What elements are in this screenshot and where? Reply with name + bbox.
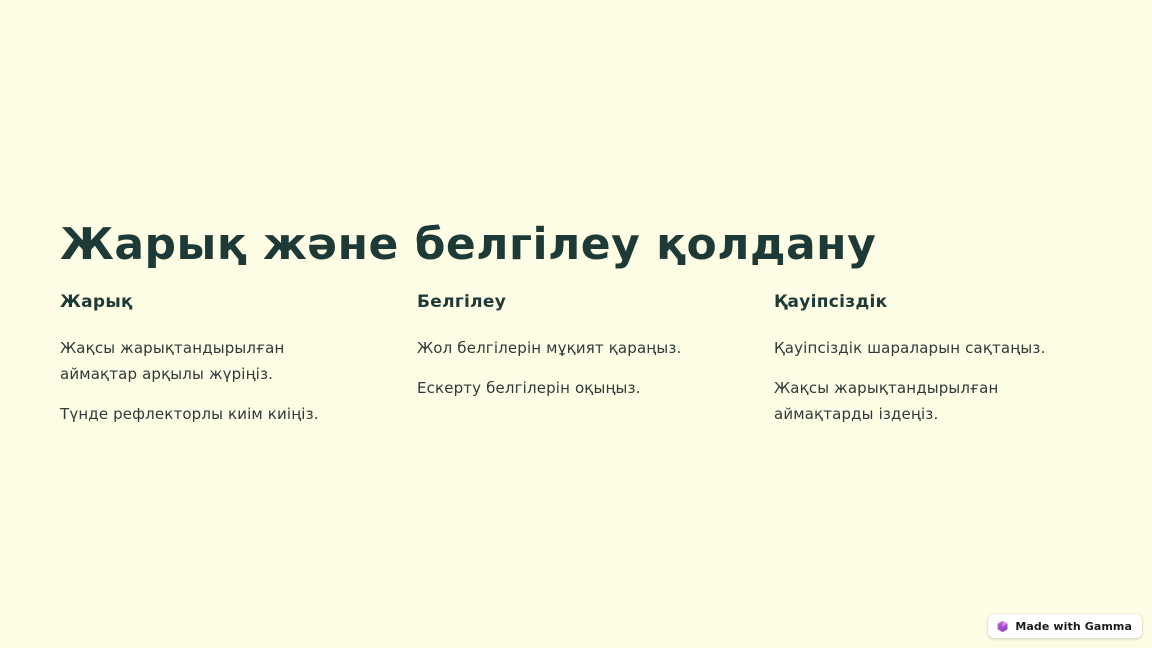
page-title: Жарық және белгілеу қолдану (60, 220, 876, 269)
column-heading: Қауіпсіздік (774, 291, 1074, 313)
column-heading: Жарық (60, 291, 360, 313)
column-paragraph: Жақсы жарықтандырылған аймақтарды іздеңі… (774, 375, 1074, 427)
gamma-logo-icon (996, 620, 1009, 633)
column-paragraph: Жол белгілерін мұқият қараңыз. (417, 335, 717, 361)
column-body: Қауіпсіздік шараларын сақтаңыз. Жақсы жа… (774, 335, 1074, 427)
column-lighting: Жарық Жақсы жарықтандырылған аймақтар ар… (60, 291, 360, 427)
column-heading: Белгілеу (417, 291, 717, 313)
slide-canvas: Жарық және белгілеу қолдану Жарық Жақсы … (0, 0, 1152, 648)
column-paragraph: Түнде рефлекторлы киім киіңіз. (60, 401, 360, 427)
column-body: Жақсы жарықтандырылған аймақтар арқылы ж… (60, 335, 360, 427)
column-signage: Белгілеу Жол белгілерін мұқият қараңыз. … (417, 291, 717, 401)
made-with-gamma-badge[interactable]: Made with Gamma (988, 614, 1142, 638)
made-with-gamma-label: Made with Gamma (1015, 621, 1132, 632)
column-paragraph: Ескерту белгілерін оқыңыз. (417, 375, 717, 401)
column-body: Жол белгілерін мұқият қараңыз. Ескерту б… (417, 335, 717, 401)
column-safety: Қауіпсіздік Қауіпсіздік шараларын сақтаң… (774, 291, 1074, 427)
column-paragraph: Қауіпсіздік шараларын сақтаңыз. (774, 335, 1074, 361)
columns-container: Жарық Жақсы жарықтандырылған аймақтар ар… (60, 291, 1092, 427)
column-paragraph: Жақсы жарықтандырылған аймақтар арқылы ж… (60, 335, 360, 387)
